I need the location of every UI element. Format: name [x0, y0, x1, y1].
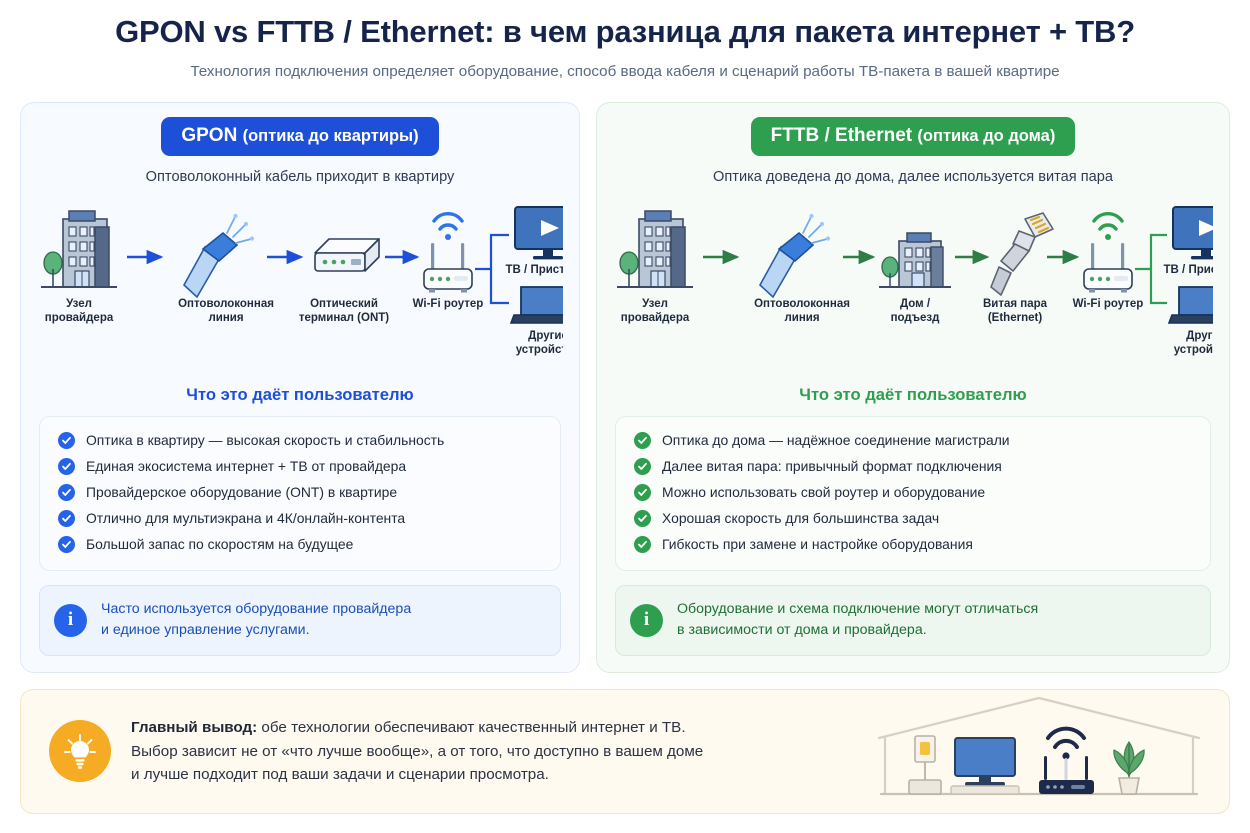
tv-screen-icon	[1173, 207, 1213, 259]
gpon-node-4-label-1: Wi-Fi роутер	[413, 298, 484, 310]
info-icon: i	[54, 604, 87, 637]
check-icon	[634, 536, 651, 553]
fttb-node-4-label-1: Витая пара	[983, 298, 1048, 310]
fttb-endpoint-2-label-1: Другие	[1186, 330, 1213, 342]
fttb-node-3-label-2: подъезд	[891, 312, 940, 324]
tv-screen-icon	[515, 207, 563, 259]
fttb-note-line-1: Оборудование и схема подключение могут о…	[677, 601, 1038, 617]
fttb-node-1-label-2: провайдера	[621, 312, 690, 324]
conclusion-line-1: обе технологии обеспечивают качественный…	[257, 719, 685, 736]
gpon-note-line-2: и единое управление услугами.	[101, 622, 310, 638]
gpon-panel: GPON (оптика до квартиры) Оптоволоконный…	[20, 102, 580, 673]
check-icon	[58, 484, 75, 501]
fttb-branch-tv	[1135, 235, 1167, 269]
gpon-panel-subtitle: Оптоволоконный кабель приходит в квартир…	[39, 169, 561, 185]
wifi-router-icon	[1084, 213, 1132, 292]
fttb-badge-main: FTTB / Ethernet	[771, 125, 912, 146]
list-item-label: Далее витая пара: привычный формат подкл…	[662, 458, 1002, 475]
gpon-benefits-list: Оптика в квартиру — высокая скорость и с…	[39, 416, 561, 571]
laptop-phone-icon	[1169, 287, 1213, 323]
conclusion-text: Главный вывод: обе технологии обеспечива…	[131, 716, 703, 787]
fttb-endpoint-1-label: ТВ / Приставка	[1164, 264, 1213, 276]
office-building-icon	[41, 211, 117, 287]
fttb-node-2-label-1: Оптоволоконная	[754, 298, 850, 310]
page-header: GPON vs FTTB / Ethernet: в чем разница д…	[0, 0, 1250, 80]
fttb-diagram: Узел провайдера Оптоволоконная линия	[615, 197, 1211, 379]
gpon-endpoint-2-label-1: Другие	[528, 330, 563, 342]
gpon-note-line-1: Часто используется оборудование провайде…	[101, 601, 411, 617]
list-item-label: Оптика до дома — надёжное соединение маг…	[662, 432, 1010, 449]
ont-terminal-icon	[315, 239, 379, 271]
tv-icon	[951, 738, 1019, 794]
fttb-node-3-label-1: Дом /	[900, 298, 931, 310]
gpon-node-3-label-2: терминал (ONT)	[299, 312, 389, 324]
gpon-node-2-label-1: Оптоволоконная	[178, 298, 274, 310]
check-icon	[634, 458, 651, 475]
check-icon	[58, 432, 75, 449]
ethernet-rj45-icon	[991, 213, 1053, 295]
gpon-endpoint-2-label-2: устройства	[516, 344, 563, 356]
gpon-diagram: Узел провайдера Оптоволоконная линия	[39, 197, 561, 379]
list-item-label: Оптика в квартиру — высокая скорость и с…	[86, 432, 444, 449]
fttb-badge: FTTB / Ethernet (оптика до дома)	[751, 117, 1076, 156]
lightbulb-icon	[49, 720, 111, 782]
router-wifi-icon	[1039, 728, 1094, 793]
list-item-label: Отлично для мультиэкрана и 4К/онлайн-кон…	[86, 510, 405, 527]
gpon-benefits-title: Что это даёт пользователю	[39, 385, 561, 405]
list-item: Провайдерское оборудование (ONT) в кварт…	[54, 480, 546, 506]
gpon-note-text: Часто используется оборудование провайде…	[101, 599, 411, 642]
plant-icon	[1114, 742, 1144, 794]
fttb-panel: FTTB / Ethernet (оптика до дома) Оптика …	[596, 102, 1230, 673]
check-icon	[58, 510, 75, 527]
list-item: Далее витая пара: привычный формат подкл…	[630, 454, 1196, 480]
list-item-label: Провайдерское оборудование (ONT) в кварт…	[86, 484, 397, 501]
lamp-icon	[909, 736, 941, 794]
fttb-note-text: Оборудование и схема подключение могут о…	[677, 599, 1038, 642]
gpon-badge-wrap: GPON (оптика до квартиры)	[39, 117, 561, 156]
check-icon	[634, 510, 651, 527]
gpon-node-1-label-1: Узел	[66, 298, 92, 310]
fttb-badge-wrap: FTTB / Ethernet (оптика до дома)	[615, 117, 1211, 156]
list-item-label: Хорошая скорость для большинства задач	[662, 510, 939, 527]
infographic-page: GPON vs FTTB / Ethernet: в чем разница д…	[0, 0, 1250, 833]
list-item-label: Единая экосистема интернет + ТВ от прова…	[86, 458, 406, 475]
gpon-branch-tv	[475, 235, 509, 269]
gpon-badge-suffix: (оптика до квартиры)	[243, 127, 419, 145]
fttb-node-2-label-2: линия	[784, 312, 819, 324]
list-item: Можно использовать свой роутер и оборудо…	[630, 480, 1196, 506]
fiber-optic-cable-icon	[760, 214, 830, 297]
list-item-label: Можно использовать свой роутер и оборудо…	[662, 484, 985, 501]
gpon-endpoint-1-label: ТВ / Приставка	[506, 264, 563, 276]
fttb-note-line-2: в зависимости от дома и провайдера.	[677, 622, 927, 638]
list-item: Гибкость при замене и настройке оборудов…	[630, 532, 1196, 558]
check-icon	[58, 458, 75, 475]
fttb-node-4-label-2: (Ethernet)	[988, 312, 1042, 324]
office-building-icon	[617, 211, 693, 287]
gpon-node-2-label-2: линия	[208, 312, 243, 324]
fttb-benefits-list: Оптика до дома — надёжное соединение маг…	[615, 416, 1211, 571]
conclusion-banner: Главный вывод: обе технологии обеспечива…	[20, 689, 1230, 814]
check-icon	[58, 536, 75, 553]
gpon-badge: GPON (оптика до квартиры)	[161, 117, 438, 156]
house-with-tv-router-lamp-plant-icon	[859, 694, 1219, 814]
comparison-panels: GPON (оптика до квартиры) Оптоволоконный…	[0, 80, 1250, 673]
fttb-endpoint-2-label-2: устройства	[1174, 344, 1213, 356]
gpon-badge-main: GPON	[181, 125, 237, 146]
gpon-node-1-label-2: провайдера	[45, 312, 114, 324]
fttb-panel-subtitle: Оптика доведена до дома, далее используе…	[615, 169, 1211, 185]
list-item: Большой запас по скоростям на будущее	[54, 532, 546, 558]
page-title: GPON vs FTTB / Ethernet: в чем разница д…	[0, 14, 1250, 50]
conclusion-line-3: и лучше подходит под ваши задачи и сцена…	[131, 766, 549, 783]
page-subtitle: Технология подключения определяет оборуд…	[0, 63, 1250, 80]
gpon-node-3-label-1: Оптический	[310, 298, 378, 310]
fttb-node-1-label-1: Узел	[642, 298, 668, 310]
fttb-note-box: i Оборудование и схема подключение могут…	[615, 585, 1211, 656]
list-item: Единая экосистема интернет + ТВ от прова…	[54, 454, 546, 480]
laptop-phone-icon	[511, 287, 563, 323]
wifi-router-icon	[424, 213, 472, 292]
list-item: Хорошая скорость для большинства задач	[630, 506, 1196, 532]
info-icon: i	[630, 604, 663, 637]
fttb-node-5-label-1: Wi-Fi роутер	[1073, 298, 1144, 310]
list-item: Оптика до дома — надёжное соединение маг…	[630, 428, 1196, 454]
apartment-building-icon	[879, 233, 951, 287]
check-icon	[634, 432, 651, 449]
list-item-label: Большой запас по скоростям на будущее	[86, 536, 353, 553]
conclusion-label: Главный вывод:	[131, 719, 257, 736]
list-item: Оптика в квартиру — высокая скорость и с…	[54, 428, 546, 454]
list-item: Отлично для мультиэкрана и 4К/онлайн-кон…	[54, 506, 546, 532]
fiber-optic-cable-icon	[184, 214, 254, 297]
fttb-badge-suffix: (оптика до дома)	[917, 127, 1055, 145]
fttb-benefits-title: Что это даёт пользователю	[615, 385, 1211, 405]
list-item-label: Гибкость при замене и настройке оборудов…	[662, 536, 973, 553]
check-icon	[634, 484, 651, 501]
conclusion-line-2: Выбор зависит не от «что лучше вообще», …	[131, 743, 703, 760]
gpon-note-box: i Часто используется оборудование провай…	[39, 585, 561, 656]
